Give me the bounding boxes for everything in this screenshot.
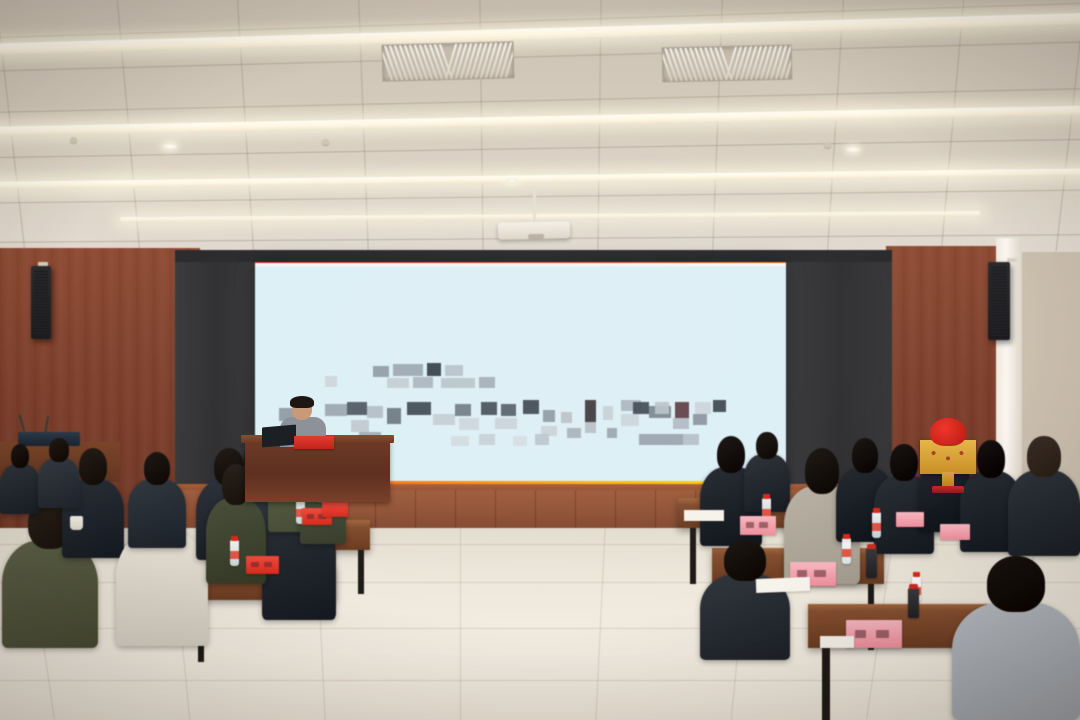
name-card (846, 620, 902, 648)
water-bottle (230, 540, 239, 566)
mosaic-block (683, 434, 699, 445)
conference-room-photo (0, 0, 1080, 720)
mosaic-block (481, 402, 497, 415)
person-head (144, 452, 171, 485)
presenter-laptop (262, 425, 296, 448)
person-head (1027, 436, 1060, 477)
paper-document (756, 577, 810, 593)
mosaic-block (479, 377, 495, 388)
mosaic-block (413, 377, 433, 388)
mosaic-block (561, 412, 572, 423)
mosaic-block (655, 402, 669, 414)
person-head (717, 436, 746, 473)
mosaic-block (459, 418, 479, 430)
smoke-detector (824, 142, 831, 148)
ceiling (0, 0, 1080, 252)
mosaic-block (675, 402, 689, 418)
mosaic-block (325, 376, 337, 387)
mosaic-block (407, 402, 431, 415)
person-head (49, 438, 68, 462)
podium-desk (245, 440, 390, 502)
mosaic-block (451, 436, 469, 446)
red-ribbon-bow (930, 418, 966, 446)
person-head (977, 440, 1006, 478)
mosaic-block (603, 406, 613, 420)
mosaic-block (387, 378, 409, 388)
mosaic-block (633, 402, 649, 414)
floor-grout-line (460, 528, 461, 720)
air-vent (662, 45, 793, 83)
person-body (116, 531, 208, 646)
audience-member (700, 540, 790, 660)
person-head (756, 432, 777, 459)
person-body (952, 602, 1080, 720)
award-plaque-with-ribbon (920, 418, 976, 492)
paper-document (820, 636, 854, 648)
mosaic-block (585, 422, 596, 433)
water-bottle (872, 512, 881, 538)
stage-backdrop-top (175, 250, 892, 262)
mosaic-block (351, 420, 369, 432)
mosaic-block (433, 414, 455, 425)
mosaic-block (535, 434, 549, 445)
air-vent (382, 41, 515, 81)
table-leg (358, 550, 364, 594)
mosaic-block (695, 402, 711, 414)
ceiling-grid-line (0, 137, 1080, 160)
audience-member (0, 444, 40, 514)
paper-document (684, 510, 724, 521)
floor-grout-line (0, 680, 1080, 681)
downlight (163, 144, 177, 149)
table-leg (822, 648, 830, 720)
mosaic-block (495, 418, 517, 429)
table-leg (690, 528, 696, 584)
wall-speaker-right (988, 262, 1010, 340)
presenter-at-podium (276, 398, 332, 446)
name-card (896, 512, 924, 527)
audience-member (1008, 436, 1080, 556)
mosaic-block (393, 364, 423, 376)
mosaic-block (501, 404, 516, 416)
person-head (79, 448, 108, 485)
mosaic-block (455, 404, 471, 416)
mosaic-block (693, 414, 707, 425)
name-card (246, 556, 279, 574)
presenter-nameplate (294, 436, 334, 449)
person-body (38, 458, 80, 508)
mosaic-block (523, 400, 539, 414)
person-head (805, 448, 840, 494)
thermos-flask (908, 588, 919, 618)
downlight (505, 178, 519, 183)
mosaic-block (513, 436, 527, 446)
water-bottle (842, 538, 851, 564)
audience-member (952, 556, 1080, 720)
ceiling-grid-line (1056, 1, 1080, 251)
mosaic-block (367, 406, 383, 418)
person-head (724, 540, 765, 581)
mosaic-block (713, 400, 726, 412)
name-card (740, 516, 776, 535)
mosaic-block (543, 410, 555, 422)
thermos-flask (866, 548, 877, 578)
person-head (987, 556, 1046, 612)
audience-member (128, 452, 186, 548)
mosaic-block (607, 428, 617, 438)
mosaic-block (387, 408, 401, 424)
person-head (11, 444, 29, 468)
mosaic-block (567, 428, 581, 438)
wall-speaker-left (31, 266, 51, 339)
mosaic-block (347, 402, 367, 415)
ceiling-projector (498, 221, 570, 239)
mosaic-block (639, 434, 683, 445)
mosaic-block (427, 363, 441, 376)
trophy-base (932, 486, 964, 493)
mosaic-block (373, 366, 389, 377)
name-card (940, 524, 970, 540)
paper-cup (70, 516, 83, 530)
mosaic-block (673, 418, 689, 429)
ceiling-grid-line (0, 188, 1080, 204)
smoke-detector (322, 139, 329, 145)
name-card (322, 502, 348, 517)
projector-mount-pole (533, 186, 536, 224)
person-body (1008, 470, 1080, 556)
floor-grout-line (595, 528, 605, 720)
mosaic-block (621, 414, 639, 426)
mosaic-block (585, 400, 596, 422)
mosaic-block (445, 365, 463, 376)
person-body (128, 479, 186, 548)
mosaic-block (479, 434, 495, 445)
presenter-hair (290, 396, 314, 408)
downlight (846, 147, 860, 152)
person-body (0, 464, 40, 514)
mosaic-block (441, 378, 475, 388)
person-head (890, 444, 918, 481)
smoke-detector (70, 137, 77, 143)
audience-member (38, 438, 80, 508)
